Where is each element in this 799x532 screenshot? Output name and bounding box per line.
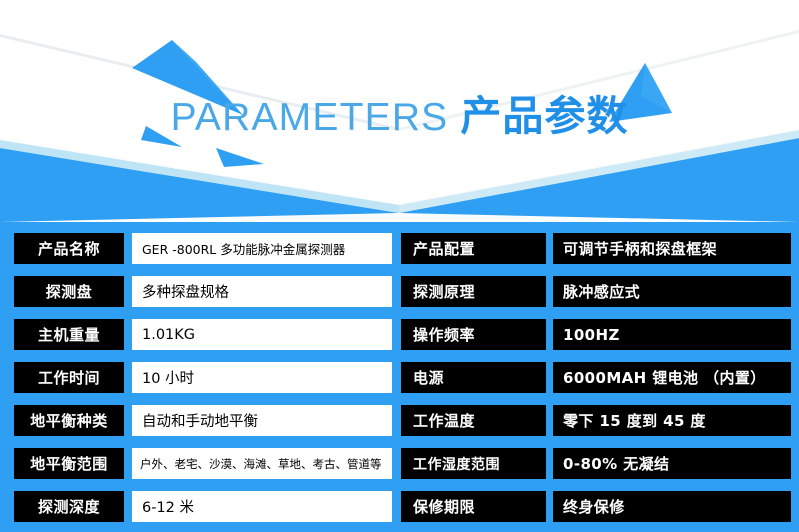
param-label-ground-balance-type: 地平衡种类 (14, 405, 124, 436)
param-value-search-coil: 多种探盘规格 (132, 276, 392, 307)
table-row: 产品名称 GER -800RL 多功能脉冲金属探测器 产品配置 可调节手柄和探盘… (0, 233, 799, 264)
page-title: PARAMETERS产品参数 (0, 96, 799, 137)
param-label-working-temperature: 工作温度 (401, 405, 546, 436)
param-label-detection-depth: 探测深度 (14, 491, 124, 522)
param-label-product-config: 产品配置 (401, 233, 546, 264)
param-value-working-temperature: 零下 15 度到 45 度 (553, 405, 791, 436)
header-banner: PARAMETERS产品参数 (0, 0, 799, 222)
param-label-product-name: 产品名称 (14, 233, 124, 264)
param-label-operating-frequency: 操作频率 (401, 319, 546, 350)
param-label-detection-principle: 探测原理 (401, 276, 546, 307)
param-label-ground-balance-range: 地平衡范围 (14, 448, 124, 479)
param-label-warranty-period: 保修期限 (401, 491, 546, 522)
param-value-host-weight: 1.01KG (132, 319, 392, 350)
param-value-detection-principle: 脉冲感应式 (553, 276, 791, 307)
param-value-humidity-range: 0-80% 无凝结 (553, 448, 791, 479)
table-row: 地平衡范围 户外、老宅、沙漠、海滩、草地、考古、管道等 工作湿度范围 0-80%… (0, 448, 799, 479)
page-title-cn: 产品参数 (460, 92, 628, 140)
table-row: 主机重量 1.01KG 操作频率 100HZ (0, 319, 799, 350)
table-row: 工作时间 10 小时 电源 6000MAH 锂电池 （内置） (0, 362, 799, 393)
param-value-ground-balance-range: 户外、老宅、沙漠、海滩、草地、考古、管道等 (132, 448, 392, 479)
param-value-ground-balance-type: 自动和手动地平衡 (132, 405, 392, 436)
table-row: 探测盘 多种探盘规格 探测原理 脉冲感应式 (0, 276, 799, 307)
table-row: 探测深度 6-12 米 保修期限 终身保修 (0, 491, 799, 522)
parameters-table: 产品名称 GER -800RL 多功能脉冲金属探测器 产品配置 可调节手柄和探盘… (0, 222, 799, 532)
param-value-working-time: 10 小时 (132, 362, 392, 393)
product-parameters-page: PARAMETERS产品参数 产品名称 GER -800RL 多功能脉冲金属探测… (0, 0, 799, 532)
param-label-humidity-range: 工作湿度范围 (401, 448, 546, 479)
param-label-search-coil: 探测盘 (14, 276, 124, 307)
param-label-power-supply: 电源 (401, 362, 546, 393)
param-label-working-time: 工作时间 (14, 362, 124, 393)
table-row: 地平衡种类 自动和手动地平衡 工作温度 零下 15 度到 45 度 (0, 405, 799, 436)
page-title-en: PARAMETERS (171, 96, 449, 139)
param-value-detection-depth: 6-12 米 (132, 491, 392, 522)
param-value-product-config: 可调节手柄和探盘框架 (553, 233, 791, 264)
param-value-warranty-period: 终身保修 (553, 491, 791, 522)
param-value-operating-frequency: 100HZ (553, 319, 791, 350)
param-value-power-supply: 6000MAH 锂电池 （内置） (553, 362, 791, 393)
param-value-product-name: GER -800RL 多功能脉冲金属探测器 (132, 233, 392, 264)
param-label-host-weight: 主机重量 (14, 319, 124, 350)
